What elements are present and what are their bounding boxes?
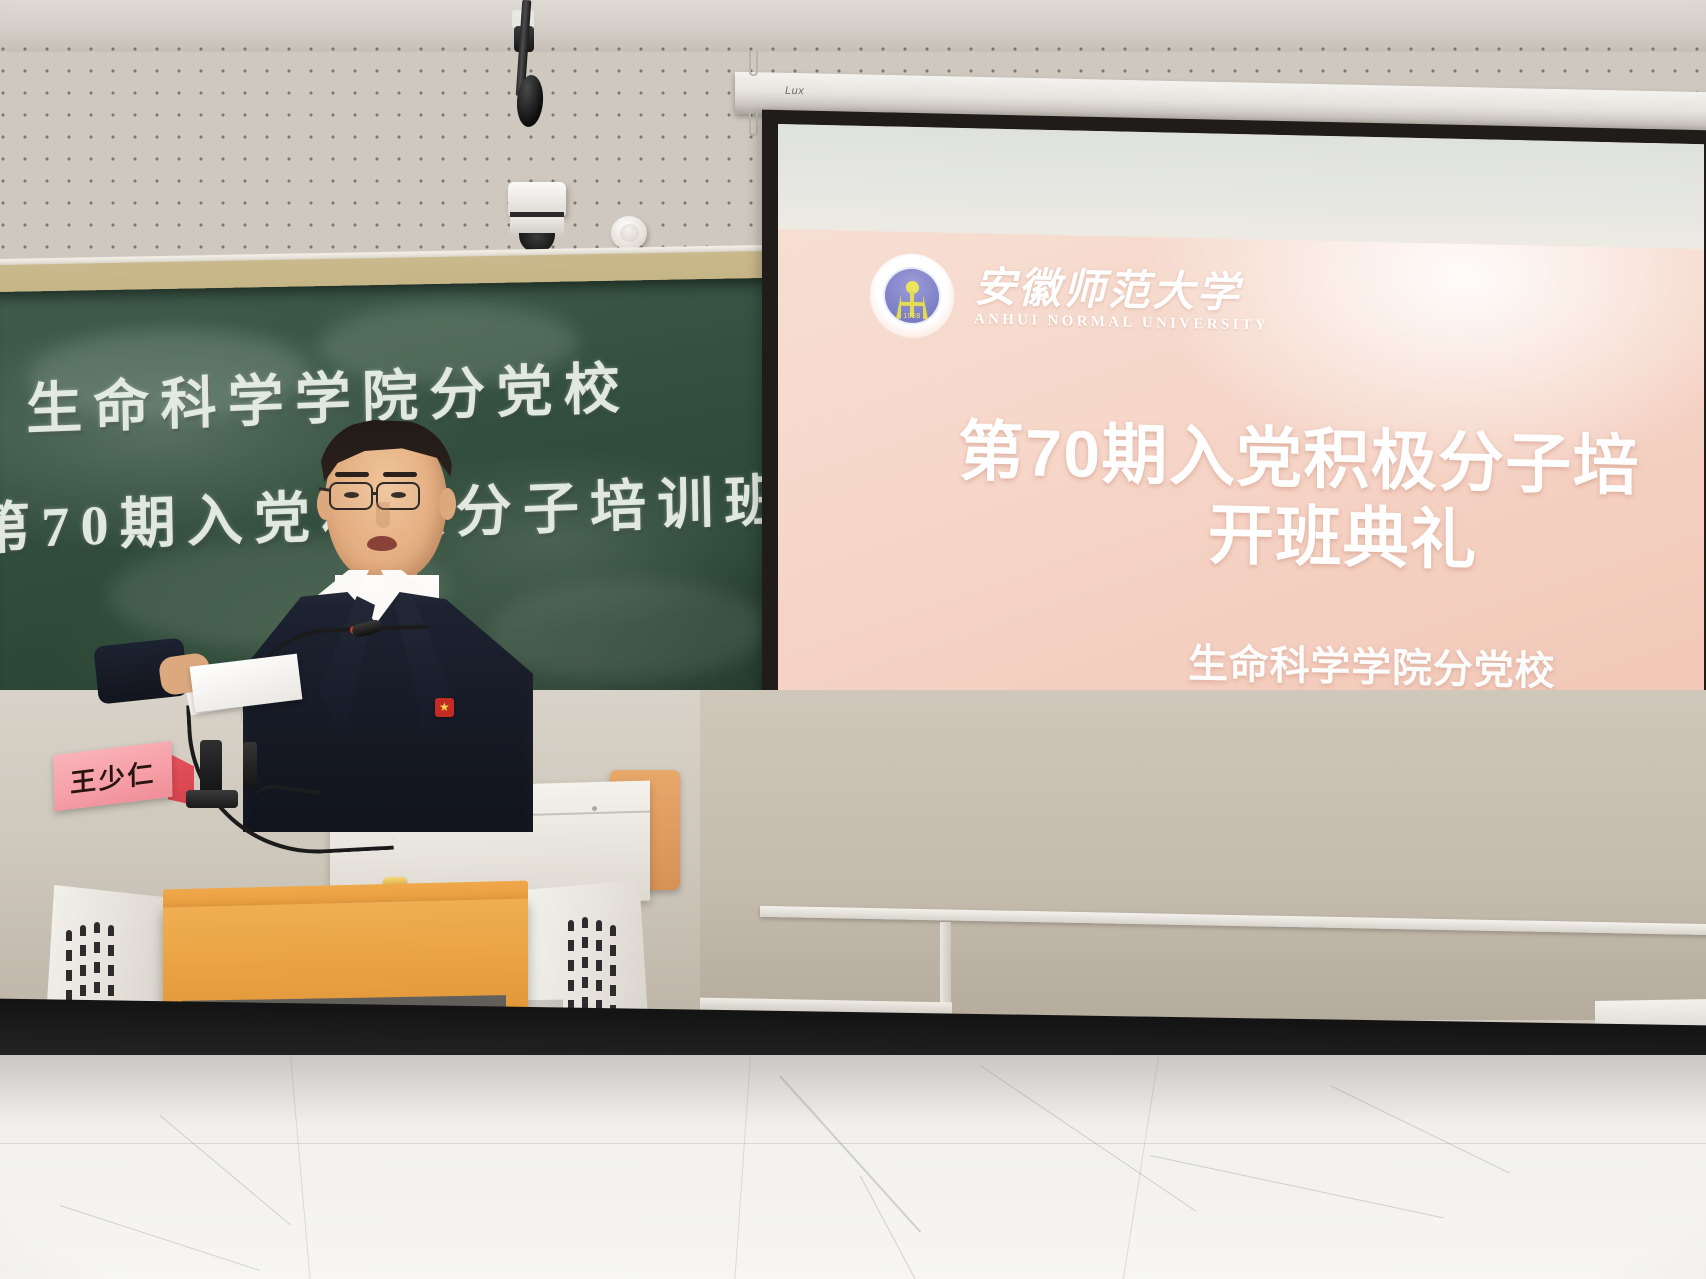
badge-star-icon: ★ <box>439 702 450 713</box>
screen-top-band <box>778 124 1704 249</box>
lecture-hall-photo: 生命科学学院分党校 第70期入党积极分子培训班 Lux 1928 <box>0 0 1706 1279</box>
university-crest-icon: 1928 <box>870 253 954 339</box>
marble-floor <box>0 1055 1706 1279</box>
ceiling <box>0 0 1706 52</box>
mouth <box>367 536 397 551</box>
slide-title: 第70期入党积极分子培 开班典礼 <box>958 413 1704 591</box>
ear-right <box>439 488 456 520</box>
ceiling-speaker <box>611 216 647 250</box>
university-name-cn: 安徽师范大学 <box>974 267 1269 315</box>
wireless-microphone <box>243 742 257 788</box>
eyebrow-right <box>383 472 417 477</box>
wall-rail-drop <box>940 922 951 1010</box>
speaker-name: 王少仁 <box>70 752 156 799</box>
eyeglasses-left-lens <box>329 482 373 510</box>
housing-brand-label: Lux <box>785 85 804 97</box>
lower-acoustic-wall-right <box>700 690 1706 1020</box>
eyebrow-left <box>335 472 369 477</box>
slide-title-line2: 开班典礼 <box>1208 496 1704 590</box>
slide-title-line1: 第70期入党积极分子培 <box>958 414 1640 503</box>
microphone-charging-base <box>186 790 238 808</box>
nose <box>376 502 390 528</box>
eyeglasses-bridge <box>373 492 378 495</box>
handheld-microphone <box>200 740 222 794</box>
crest-year-label: 1928 <box>885 312 939 320</box>
university-logo-row: 1928 安徽师范大学 ANHUI NORMAL UNIVERSITY <box>870 253 1269 346</box>
